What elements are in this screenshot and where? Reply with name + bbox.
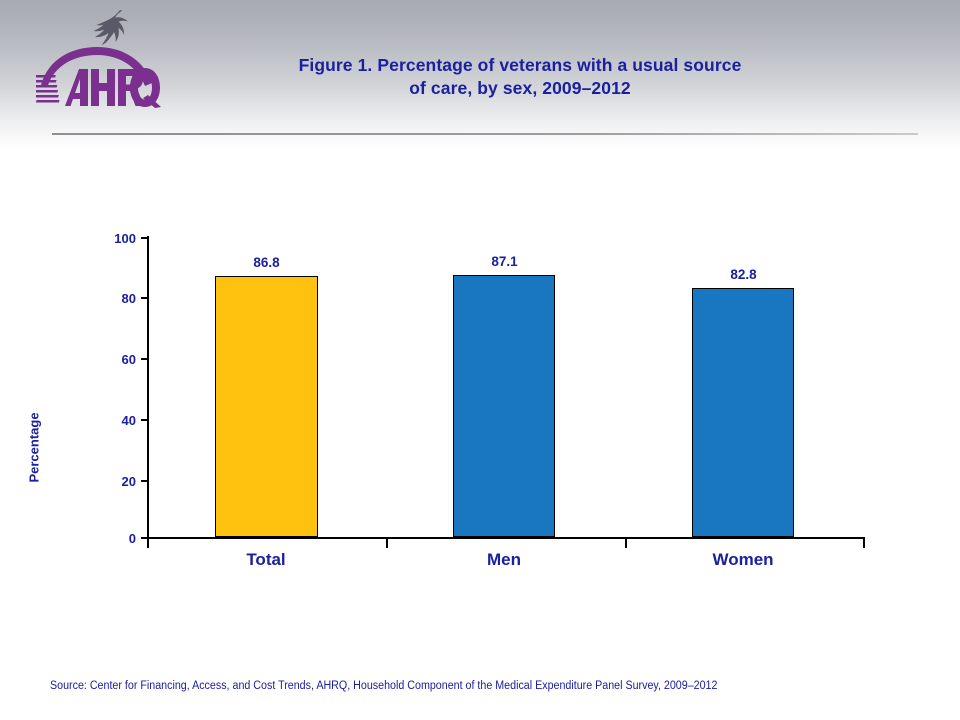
x-category-label-men: Men [444,550,564,570]
y-tick-label-60: 60 [92,353,136,366]
x-category-label-women: Women [683,550,803,570]
x-tick-mark-1 [386,539,388,548]
x-tick-mark-end [863,539,865,548]
page-header: Figure 1. Percentage of veterans with a … [0,0,960,150]
y-tick-label-0: 0 [92,532,136,545]
y-axis-label: Percentage [27,393,42,503]
header-divider [52,133,918,135]
figure-title-line-1: Figure 1. Percentage of veterans with a … [180,54,860,77]
y-tick-label-100: 100 [92,232,136,245]
y-tick-label-20: 20 [92,475,136,488]
x-tick-mark-start [147,539,149,548]
bar-value-total: 86.8 [216,256,317,270]
figure-title: Figure 1. Percentage of veterans with a … [180,54,860,100]
bar-value-men: 87.1 [454,255,555,269]
bar-men[interactable] [453,275,555,537]
source-note: Source: Center for Financing, Access, an… [50,679,868,693]
y-tick-label-40: 40 [92,414,136,427]
bar-chart: Percentage 100 80 60 40 20 0 86.8 87.1 8… [0,150,960,650]
bar-total[interactable] [215,276,318,537]
x-axis-line [147,537,865,539]
figure-title-line-2: of care, by sex, 2009–2012 [180,77,860,100]
ahrq-wordmark-icon [36,46,164,108]
x-tick-mark-2 [625,539,627,548]
hhs-eagle-icon [84,8,134,50]
bar-value-women: 82.8 [693,268,794,282]
y-axis-line [147,236,149,539]
bar-women[interactable] [692,288,794,537]
y-tick-label-80: 80 [92,292,136,305]
x-category-label-total: Total [206,550,326,570]
ahrq-logo [34,6,164,110]
